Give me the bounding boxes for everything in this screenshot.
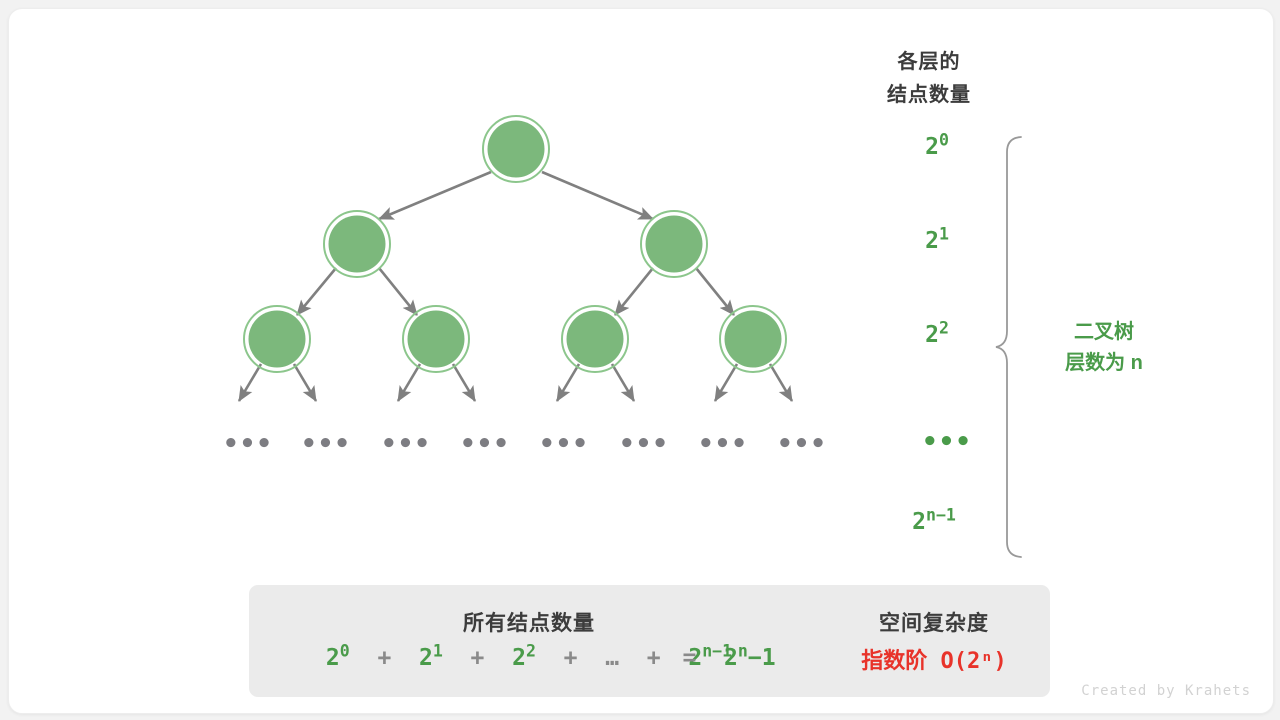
summary-left-title: 所有结点数量 <box>404 607 654 637</box>
edge-l2a-left <box>297 268 336 315</box>
brace-label-line1: 二叉树 <box>1039 317 1169 347</box>
edge-root-right <box>542 172 653 219</box>
tree-node-root[interactable] <box>483 116 549 182</box>
edge-l3d-right <box>770 364 792 401</box>
level-label-last: 2n−1 <box>864 509 1004 535</box>
tree-node-l2-b[interactable] <box>641 211 707 277</box>
leaf-ellipsis-2: ••• <box>301 429 351 459</box>
edge-l3c-left <box>557 364 579 401</box>
column-header-line1: 各层的 <box>829 45 1029 74</box>
level-label-0: 20 <box>877 134 997 160</box>
summary-right-title: 空间复杂度 <box>824 607 1044 637</box>
level-label-1: 21 <box>877 228 997 254</box>
tree-node-l3-d[interactable] <box>720 306 786 372</box>
column-header-line2: 结点数量 <box>829 78 1029 107</box>
edge-l2a-right <box>379 268 417 315</box>
level-label-ellipsis: ••• <box>922 427 972 457</box>
edge-l3d-left <box>715 364 737 401</box>
tree-nodes <box>244 116 786 372</box>
summary-box: 所有结点数量 20 + 21 + 22 + … + 2n−1 = 2n−1 空间… <box>249 585 1050 697</box>
leaf-ellipsis-7: ••• <box>698 429 748 459</box>
level-brace <box>996 137 1021 557</box>
leaf-ellipsis-5: ••• <box>539 429 589 459</box>
leaf-ellipsis-4: ••• <box>460 429 510 459</box>
edge-l3c-right <box>612 364 634 401</box>
edge-l3b-right <box>453 364 475 401</box>
figure-card: 各层的 结点数量 20 21 22 ••• 2n−1 二叉树 层数为 n •••… <box>8 8 1274 714</box>
leaf-ellipsis-1: ••• <box>223 429 273 459</box>
brace-label-line2: 层数为 n <box>1039 348 1169 378</box>
tree-edges <box>239 172 792 401</box>
tree-node-l3-b[interactable] <box>403 306 469 372</box>
edge-l3a-right <box>294 364 316 401</box>
tree-node-l3-a[interactable] <box>244 306 310 372</box>
edge-l2b-left <box>615 268 653 315</box>
edge-root-left <box>379 172 491 219</box>
edge-l2b-right <box>696 268 734 315</box>
edge-l3b-left <box>398 364 420 401</box>
watermark: Created by Krahets <box>1081 683 1251 699</box>
leaf-ellipsis-3: ••• <box>381 429 431 459</box>
tree-node-l3-c[interactable] <box>562 306 628 372</box>
leaf-ellipsis-6: ••• <box>619 429 669 459</box>
leaf-ellipsis-8: ••• <box>777 429 827 459</box>
level-label-2: 22 <box>877 322 997 348</box>
summary-formula-right: = 2n−1 <box>639 645 819 671</box>
summary-right-value: 指数阶 O(2ⁿ) <box>824 643 1044 675</box>
edge-l3a-left <box>239 364 261 401</box>
tree-node-l2-a[interactable] <box>324 211 390 277</box>
